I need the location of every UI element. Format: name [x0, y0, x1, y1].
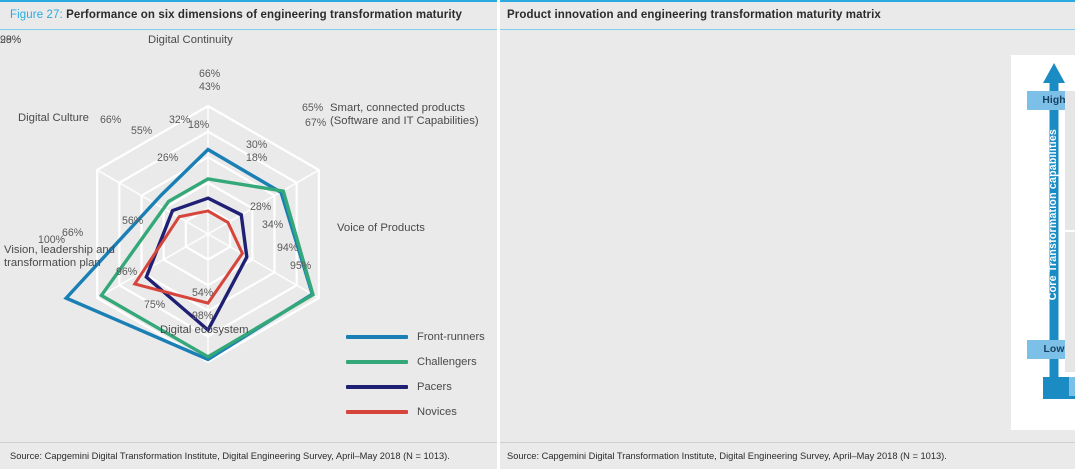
- value-vl-challengers: 96%: [116, 266, 137, 278]
- header-rule-bottom: [0, 29, 497, 30]
- y-axis-title: Core Transformation capabilities: [1047, 129, 1061, 300]
- radar-legend: Front-runners Challengers Pacers Novices: [346, 324, 485, 424]
- line-swatch-icon: [346, 335, 408, 339]
- left-panel-header: Figure 27: Performance on six dimensions…: [0, 0, 497, 30]
- value-de-front-runners: 98%: [192, 310, 213, 322]
- radar-legend-label: Challengers: [417, 356, 477, 368]
- value-dc-challengers: 43%: [199, 81, 220, 93]
- value-dc-front-runners: 66%: [199, 68, 220, 80]
- right-panel-source: Source: Capgemini Digital Transformation…: [497, 442, 1075, 469]
- right-panel-header: Product innovation and engineering trans…: [497, 0, 1075, 30]
- figure-title-row: Figure 27: Performance on six dimensions…: [0, 2, 497, 29]
- vision-line2: transformation plan: [4, 257, 115, 270]
- value-cu-novices: 26%: [157, 152, 178, 164]
- radar-legend-item-challengers: Challengers: [346, 349, 485, 374]
- value-sp-challengers: 67%: [305, 117, 326, 129]
- value-vp-front-runners: 94%: [277, 242, 298, 254]
- value-dc-novices: 18%: [188, 119, 209, 131]
- page-title: Performance on six dimensions of enginee…: [66, 9, 462, 21]
- quadrant-divider-horizontal: [1065, 230, 1075, 232]
- right-panel: Product innovation and engineering trans…: [497, 0, 1075, 469]
- value-vl-pacers: 56%: [122, 215, 143, 227]
- value-vp-novices: 28%: [250, 201, 271, 213]
- value-sp-pacers: 30%: [246, 139, 267, 151]
- smart-products-line2: (Software and IT Capabilities): [330, 115, 479, 128]
- radar-chart: Digital Continuity Smart, connected prod…: [0, 34, 497, 434]
- radar-legend-label: Front-runners: [417, 331, 485, 343]
- value-vp-challengers: 95%: [290, 260, 311, 272]
- matrix-title: Product innovation and engineering trans…: [507, 9, 881, 21]
- value-cu-pacers: 32%: [169, 114, 190, 126]
- page-root: Figure 27: Performance on six dimensions…: [0, 0, 1075, 469]
- panel-divider: [497, 0, 500, 469]
- value-cu-front-runners: 66%: [100, 114, 121, 126]
- radar-legend-item-novices: Novices: [346, 399, 485, 424]
- radar-legend-label: Novices: [417, 406, 457, 418]
- figure-label: Figure 27:: [10, 9, 63, 21]
- value-cu-challengers: 55%: [131, 125, 152, 137]
- maturity-matrix-chart: Core Transformation capabilities Transfo…: [1011, 55, 1075, 430]
- radar-axis-label-voice-of-products: Voice of Products: [337, 222, 425, 235]
- value-de-challengers: 99%: [0, 34, 21, 46]
- header-rule-bottom: [497, 29, 1075, 30]
- value-sp-front-runners: 65%: [302, 102, 323, 114]
- line-swatch-icon: [346, 385, 408, 389]
- matrix-title-row: Product innovation and engineering trans…: [497, 2, 1075, 29]
- scatter-plot-area: [1065, 91, 1075, 372]
- value-vl-novices: 66%: [62, 227, 83, 239]
- radar-legend-item-pacers: Pacers: [346, 374, 485, 399]
- x-axis-low-tag: Low: [1069, 377, 1075, 396]
- value-vp-pacers: 34%: [262, 219, 283, 231]
- value-de-novices: 54%: [192, 287, 213, 299]
- radar-axis-label-digital-culture: Digital Culture: [18, 112, 89, 125]
- radar-axis-label-digital-ecosystem: Digital ecosystem: [160, 324, 249, 337]
- value-sp-novices: 18%: [246, 152, 267, 164]
- line-swatch-icon: [346, 410, 408, 414]
- radar-axis-label-smart-products: Smart, connected products (Software and …: [330, 102, 479, 129]
- radar-axis-label-vision: Vision, leadership and transformation pl…: [4, 244, 115, 271]
- radar-legend-label: Pacers: [417, 381, 452, 393]
- radar-legend-item-front-runners: Front-runners: [346, 324, 485, 349]
- line-swatch-icon: [346, 360, 408, 364]
- smart-products-line1: Smart, connected products: [330, 102, 479, 115]
- left-panel-source: Source: Capgemini Digital Transformation…: [0, 442, 497, 469]
- radar-axis-label-digital-continuity: Digital Continuity: [148, 34, 233, 47]
- left-panel: Figure 27: Performance on six dimensions…: [0, 0, 497, 469]
- value-de-pacers: 75%: [144, 299, 165, 311]
